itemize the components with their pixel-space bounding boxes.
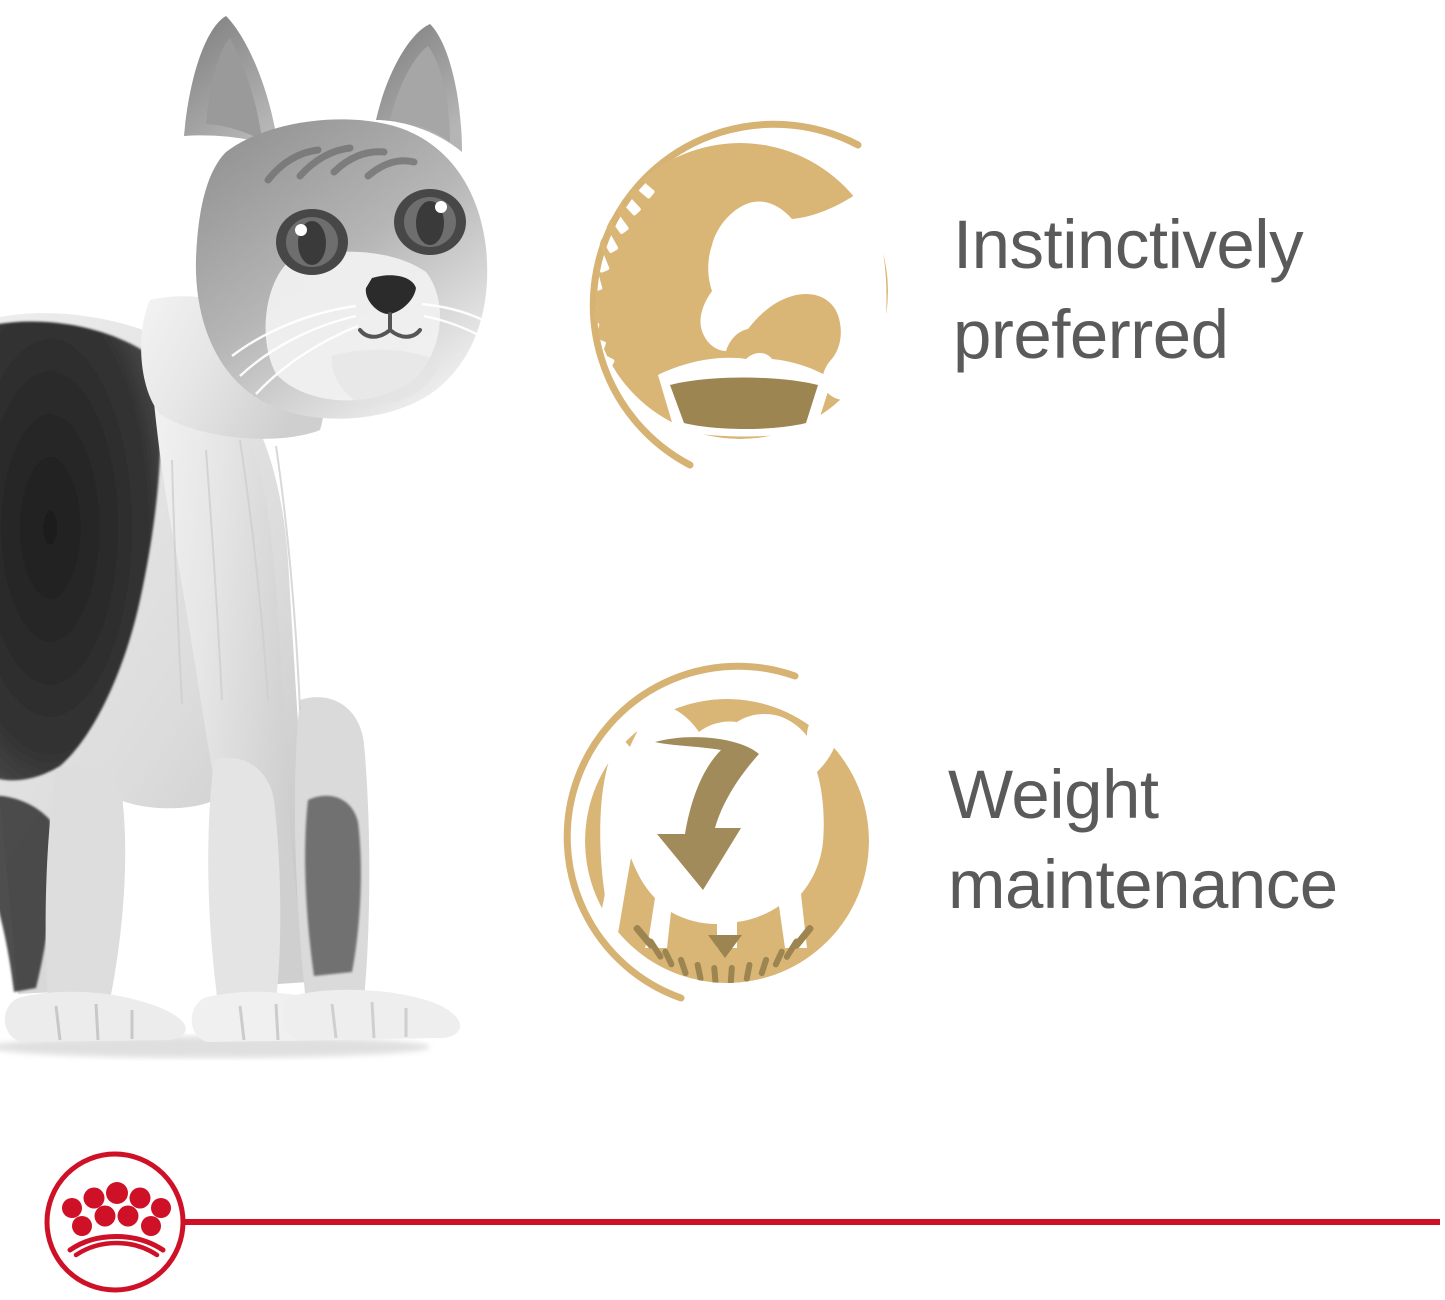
benefit-label-instinctively-preferred: Instinctively preferred — [953, 200, 1303, 379]
product-benefits-panel: Instinctively preferred — [0, 0, 1445, 1300]
instinctively-preferred-icon — [540, 93, 925, 488]
footer-brand-bar — [0, 1140, 1445, 1300]
cat-photograph — [0, 0, 520, 1075]
royal-canin-logo-circle — [47, 1154, 183, 1290]
benefit-row-instinctively-preferred: Instinctively preferred — [540, 90, 1445, 490]
benefit-label-weight-maintenance: Weight maintenance — [948, 750, 1338, 929]
benefit-row-weight-maintenance: Weight maintenance — [545, 655, 1445, 1025]
weight-maintenance-icon — [545, 658, 900, 1023]
